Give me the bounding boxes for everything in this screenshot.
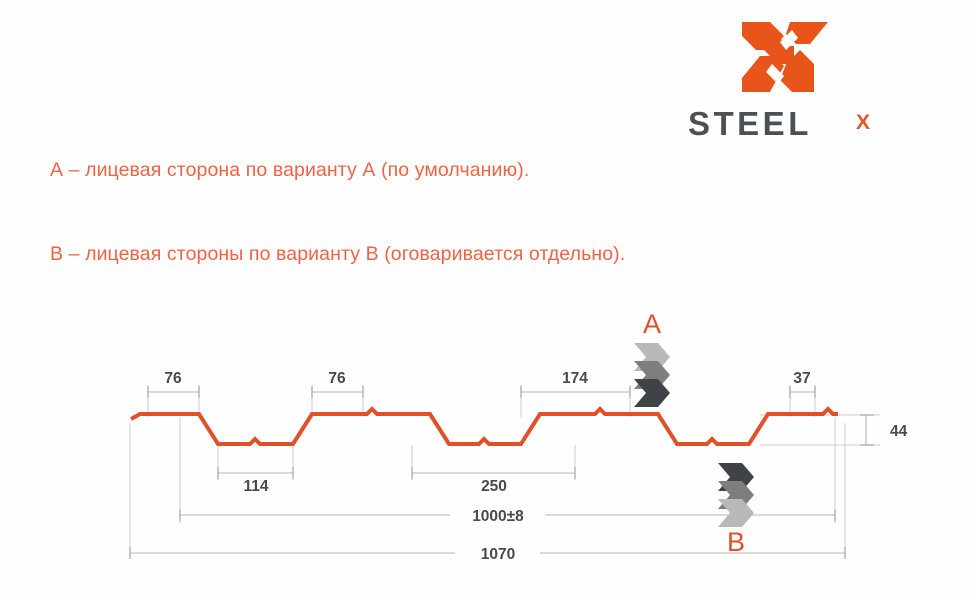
chevron-stack-a xyxy=(634,343,670,407)
steelx-wordmark: STEEL X xyxy=(688,106,903,142)
dimension-labels: 76 76 174 37 114 250 1000±8 1070 44 xyxy=(164,370,907,563)
dimension-174: 174 xyxy=(562,370,588,387)
label-side-b: B xyxy=(727,527,745,557)
caption-variant-b: В – лицевая стороны по варианту В (огова… xyxy=(50,243,625,266)
chevron-stack-b xyxy=(718,463,754,527)
steel-profile-outline xyxy=(131,409,838,444)
brand-logo: STEEL X xyxy=(688,20,948,145)
wordmark-x-superscript: X xyxy=(856,111,870,134)
witness-lines xyxy=(130,385,880,557)
caption-variant-a: А – лицевая сторона по варианту А (по ум… xyxy=(50,159,529,182)
dimension-lines xyxy=(130,392,866,553)
dimension-1000: 1000±8 xyxy=(472,508,524,525)
steelx-x-mark-icon xyxy=(740,20,830,94)
dimension-1070: 1070 xyxy=(481,546,515,563)
wordmark-steel-text: STEEL xyxy=(688,106,812,142)
label-side-a: A xyxy=(643,309,661,339)
dimension-250: 250 xyxy=(481,478,507,495)
dimension-114: 114 xyxy=(243,478,268,495)
profile-technical-drawing: A B 76 76 174 37 114 250 1000±8 1070 44 xyxy=(0,295,970,580)
dimension-76-second: 76 xyxy=(328,370,346,387)
dimension-44-height: 44 xyxy=(890,423,908,440)
dimension-76-left: 76 xyxy=(164,370,182,387)
dimension-37: 37 xyxy=(793,370,810,387)
